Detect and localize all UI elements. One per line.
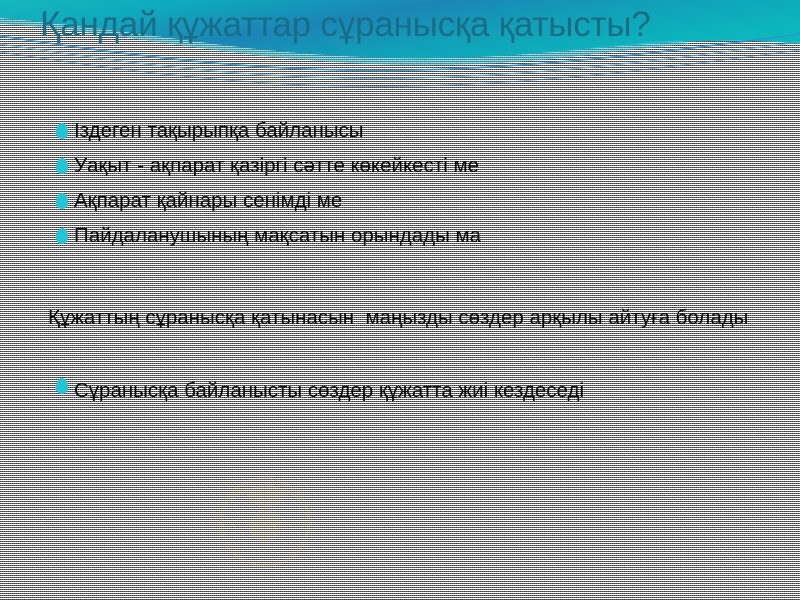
- leaf-bullet-icon: [52, 121, 74, 145]
- leaf-bullet-icon: [52, 156, 74, 180]
- leaf-bullet-icon: [52, 376, 74, 400]
- leaf-bullet-icon: [52, 191, 74, 215]
- list-item: Уақыт - ақпарат қазіргі сәтте көкейкесті…: [52, 153, 772, 182]
- list-item: Сұранысқа байланысты сөздер құжатта жиі …: [52, 373, 782, 409]
- list-item: Іздеген тақырыпқа байланысы: [52, 118, 772, 147]
- list-item-label: Іздеген тақырыпқа байланысы: [74, 118, 364, 143]
- list-item-label: Пайдаланушының мақсатын орындады ма: [74, 223, 481, 248]
- presentation-slide: Қандай құжаттар сұранысқа қатысты? Іздег…: [0, 0, 800, 600]
- bullet-list: Іздеген тақырыпқа байланысы Уақыт - ақпа…: [52, 118, 772, 258]
- list-item-label: Сұранысқа байланысты сөздер құжатта жиі …: [74, 373, 734, 409]
- slide-content: Қандай құжаттар сұранысқа қатысты? Іздег…: [0, 0, 800, 600]
- leaf-bullet-icon: [52, 226, 74, 250]
- list-item-label: Ақпарат қайнары сенімді ме: [74, 188, 342, 213]
- slide-title: Қандай құжаттар сұранысқа қатысты?: [40, 2, 770, 48]
- list-item-label: Уақыт - ақпарат қазіргі сәтте көкейкесті…: [74, 153, 479, 178]
- body-paragraph: Құжаттың сұранысқа қатынасын маңызды сөз…: [48, 300, 778, 336]
- list-item: Пайдаланушының мақсатын орындады ма: [52, 223, 772, 252]
- list-item: Ақпарат қайнары сенімді ме: [52, 188, 772, 217]
